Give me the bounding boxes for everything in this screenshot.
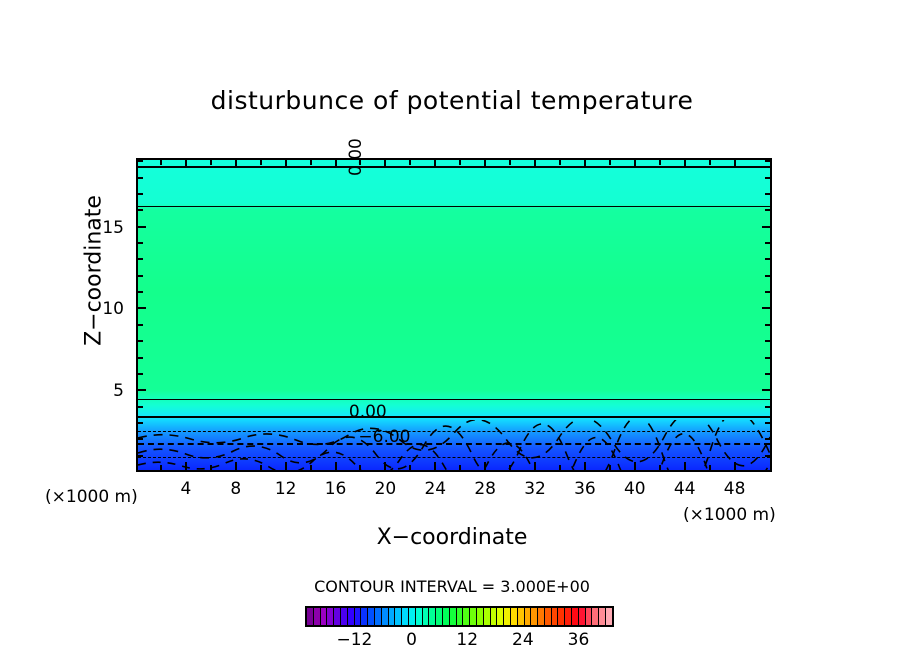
y-axis-minor-tick	[765, 242, 772, 244]
x-axis-minor-tick	[659, 465, 661, 472]
x-axis-tick	[384, 462, 386, 472]
colorbar-swatch	[375, 608, 382, 625]
y-axis-minor-tick	[765, 455, 772, 457]
x-axis-minor-tick	[709, 465, 711, 472]
colorbar-swatch	[463, 608, 470, 625]
contour-line	[138, 206, 770, 207]
x-axis-minor-tick	[659, 158, 661, 165]
y-axis-minor-tick	[136, 275, 143, 277]
colorbar-swatch	[477, 608, 484, 625]
x-axis-minor-tick	[409, 158, 411, 165]
x-axis-minor-tick	[210, 158, 212, 165]
y-axis-minor-tick	[136, 242, 143, 244]
colorbar-tick-label: 0	[390, 630, 434, 650]
colorbar-swatch	[484, 608, 491, 625]
colorbar-swatch	[307, 608, 314, 625]
x-axis-tick	[584, 158, 586, 168]
x-axis-minor-tick	[459, 465, 461, 472]
colorbar-swatch	[395, 608, 402, 625]
colorbar-swatch	[348, 608, 355, 625]
colorbar-swatch	[402, 608, 409, 625]
y-axis-minor-tick	[765, 258, 772, 260]
y-axis-tick	[762, 389, 772, 391]
x-axis-tick	[384, 158, 386, 168]
colorbar-swatch	[327, 608, 334, 625]
x-axis-tick	[684, 158, 686, 168]
x-axis-minor-tick	[709, 158, 711, 165]
x-axis-tick	[634, 462, 636, 472]
x-axis-tick-label: 20	[365, 479, 405, 499]
contour-line	[138, 166, 770, 168]
x-axis-tick	[434, 462, 436, 472]
y-axis-minor-tick	[136, 324, 143, 326]
colorbar-swatch	[341, 608, 348, 625]
x-axis-minor-tick	[359, 158, 361, 165]
x-axis-tick-label: 44	[665, 479, 705, 499]
colorbar-swatch	[497, 608, 504, 625]
y-axis-tick-label: 5	[84, 381, 124, 401]
colorbar-swatch	[504, 608, 511, 625]
y-axis-minor-tick	[765, 324, 772, 326]
y-axis-minor-tick	[765, 177, 772, 179]
x-axis-minor-tick	[260, 465, 262, 472]
colorbar-swatch	[606, 608, 612, 625]
x-axis-minor-tick	[409, 465, 411, 472]
colorbar-swatch	[586, 608, 593, 625]
colorbar-tick-label: 12	[445, 630, 489, 650]
y-axis-minor-tick	[136, 357, 143, 359]
y-axis-tick	[136, 389, 146, 391]
x-axis-tick	[534, 462, 536, 472]
x-axis-tick-label: 32	[515, 479, 555, 499]
x-axis-tick-label: 48	[715, 479, 755, 499]
wavy-contour-layer	[138, 420, 770, 470]
y-axis-minor-tick	[765, 438, 772, 440]
y-axis-minor-tick	[765, 193, 772, 195]
colorbar-swatch	[334, 608, 341, 625]
x-axis-minor-tick	[559, 465, 561, 472]
colorbar-swatch	[558, 608, 565, 625]
x-axis-tick	[235, 462, 237, 472]
y-axis-minor-tick	[765, 406, 772, 408]
x-axis-label: X−coordinate	[0, 525, 904, 550]
y-axis-minor-tick	[136, 340, 143, 342]
colorbar-swatch	[423, 608, 430, 625]
colorbar-swatch	[599, 608, 606, 625]
y-axis-minor-tick	[136, 291, 143, 293]
x-axis-minor-tick	[459, 158, 461, 165]
colorbar-swatch	[565, 608, 572, 625]
y-axis-minor-tick	[765, 160, 772, 162]
x-axis-tick-label: 8	[216, 479, 256, 499]
y-axis-minor-tick	[765, 291, 772, 293]
x-axis-tick-label: 16	[316, 479, 356, 499]
colorbar-swatch	[450, 608, 457, 625]
colorbar-swatch	[552, 608, 559, 625]
colorbar-tick-label: 24	[501, 630, 545, 650]
x-axis-minor-tick	[310, 158, 312, 165]
y-axis-minor-tick	[136, 373, 143, 375]
y-axis-minor-tick	[765, 357, 772, 359]
colorbar-swatch	[538, 608, 545, 625]
x-axis-tick	[235, 158, 237, 168]
y-axis-minor-tick	[136, 438, 143, 440]
contour-label: 0.00	[346, 402, 390, 422]
colorbar-swatch	[382, 608, 389, 625]
colorbar-tick-label: −12	[332, 630, 376, 650]
x-axis-minor-tick	[509, 158, 511, 165]
colorbar-swatch	[457, 608, 464, 625]
contour-label: −6.00	[355, 427, 413, 447]
y-axis-minor-tick	[136, 193, 143, 195]
contour-line	[138, 457, 770, 458]
x-axis-minor-tick	[509, 465, 511, 472]
colorbar-swatch	[545, 608, 552, 625]
x-axis-tick-label: 4	[166, 479, 206, 499]
colorbar-swatch	[429, 608, 436, 625]
x-axis-tick	[584, 462, 586, 472]
contour-line	[138, 443, 770, 445]
x-axis-tick-label: 36	[565, 479, 605, 499]
colorbar-tick-label: 36	[556, 630, 600, 650]
colorbar-swatch	[531, 608, 538, 625]
y-units-label: (×1000 m)	[45, 487, 138, 507]
colorbar-swatch	[592, 608, 599, 625]
y-axis-tick	[136, 226, 146, 228]
y-axis-minor-tick	[136, 422, 143, 424]
x-axis-tick	[734, 462, 736, 472]
x-axis-tick	[185, 158, 187, 168]
x-axis-minor-tick	[210, 465, 212, 472]
x-axis-tick	[484, 158, 486, 168]
colorbar-swatch	[321, 608, 328, 625]
x-axis-tick	[484, 462, 486, 472]
y-axis-tick	[762, 226, 772, 228]
colorbar-swatch	[416, 608, 423, 625]
colorbar-swatch	[443, 608, 450, 625]
y-axis-minor-tick	[136, 177, 143, 179]
x-axis-tick	[335, 462, 337, 472]
y-axis-minor-tick	[765, 373, 772, 375]
colorbar-swatch	[518, 608, 525, 625]
x-axis-minor-tick	[609, 465, 611, 472]
y-axis-minor-tick	[136, 160, 143, 162]
x-axis-tick	[285, 158, 287, 168]
y-axis-minor-tick	[765, 340, 772, 342]
y-axis-minor-tick	[136, 406, 143, 408]
y-axis-minor-tick	[765, 275, 772, 277]
x-axis-tick	[335, 158, 337, 168]
colorbar-swatch	[470, 608, 477, 625]
y-axis-label: Z−coordinate	[82, 171, 107, 371]
page-title: disturbunce of potential temperature	[0, 86, 904, 115]
y-axis-minor-tick	[136, 455, 143, 457]
x-axis-tick	[185, 462, 187, 472]
x-axis-minor-tick	[310, 465, 312, 472]
x-axis-tick	[285, 462, 287, 472]
x-axis-minor-tick	[160, 465, 162, 472]
x-axis-tick	[434, 158, 436, 168]
y-axis-minor-tick	[765, 209, 772, 211]
colorbar-tick-labels: −120122436	[305, 630, 614, 652]
plot-area	[136, 158, 772, 472]
x-units-label: (×1000 m)	[683, 505, 776, 525]
contour-label: 0.00	[346, 135, 366, 179]
x-axis-tick-label: 28	[465, 479, 505, 499]
contour-line	[138, 416, 770, 418]
contour-interval-caption: CONTOUR INTERVAL = 3.000E+00	[0, 577, 904, 596]
x-axis-tick	[534, 158, 536, 168]
colorbar-swatch	[355, 608, 362, 625]
colorbar-swatch	[491, 608, 498, 625]
contour-line	[138, 399, 770, 400]
colorbar-swatch	[572, 608, 579, 625]
y-axis-minor-tick	[765, 422, 772, 424]
x-axis-tick-label: 12	[266, 479, 306, 499]
x-axis-tick	[734, 158, 736, 168]
colorbar-swatch	[525, 608, 532, 625]
x-axis-minor-tick	[160, 158, 162, 165]
colorbar-swatch	[314, 608, 321, 625]
x-axis-minor-tick	[260, 158, 262, 165]
colorbar-swatch	[436, 608, 443, 625]
x-axis-minor-tick	[609, 158, 611, 165]
colorbar-swatch	[409, 608, 416, 625]
x-axis-tick	[684, 462, 686, 472]
contour-line	[138, 431, 770, 432]
colorbar-swatch	[511, 608, 518, 625]
colorbar-swatch	[361, 608, 368, 625]
x-axis-minor-tick	[359, 465, 361, 472]
y-axis-minor-tick	[136, 209, 143, 211]
colorbar-swatch	[579, 608, 586, 625]
x-axis-tick-label: 24	[415, 479, 455, 499]
colorbar	[305, 606, 614, 627]
y-axis-minor-tick	[136, 258, 143, 260]
y-axis-tick	[762, 307, 772, 309]
x-axis-tick	[634, 158, 636, 168]
colorbar-swatch	[389, 608, 396, 625]
x-axis-tick-label: 40	[615, 479, 655, 499]
y-axis-tick	[136, 307, 146, 309]
colorbar-swatch	[368, 608, 375, 625]
x-axis-minor-tick	[559, 158, 561, 165]
